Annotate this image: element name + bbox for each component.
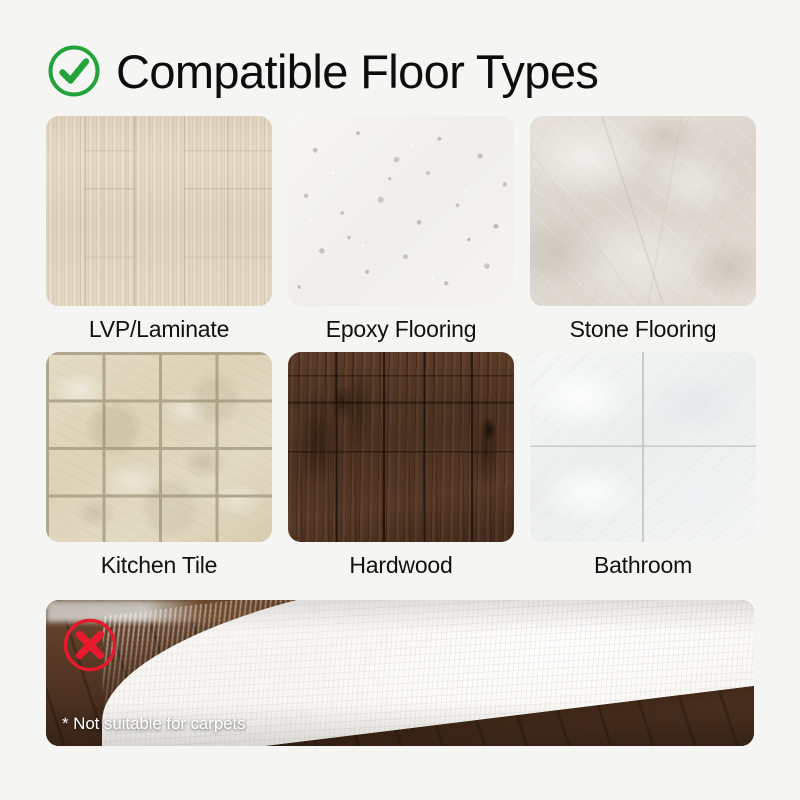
swatch-kitchen-tile xyxy=(46,352,272,542)
floor-type-label: Stone Flooring xyxy=(530,306,756,352)
floor-type-grid: LVP/Laminate Epoxy Flooring Stone Floori… xyxy=(46,116,756,588)
floor-type-label: Kitchen Tile xyxy=(46,542,272,588)
check-circle-icon xyxy=(46,43,102,99)
swatch-epoxy-flooring xyxy=(288,116,514,306)
swatch-lvp-laminate xyxy=(46,116,272,306)
floor-type-label: Epoxy Flooring xyxy=(288,306,514,352)
floor-type-card-hardwood[interactable]: Hardwood xyxy=(288,352,514,588)
infographic-page: Compatible Floor Types LVP/Laminate Epox… xyxy=(0,0,800,800)
floor-type-label: Hardwood xyxy=(288,542,514,588)
floor-type-card-stone-flooring[interactable]: Stone Flooring xyxy=(530,116,756,352)
swatch-hardwood xyxy=(288,352,514,542)
swatch-bathroom xyxy=(530,352,756,542)
floor-type-card-lvp-laminate[interactable]: LVP/Laminate xyxy=(46,116,272,352)
floor-type-card-epoxy-flooring[interactable]: Epoxy Flooring xyxy=(288,116,514,352)
x-circle-icon xyxy=(61,616,119,674)
floor-type-label: LVP/Laminate xyxy=(46,306,272,352)
floor-type-card-bathroom[interactable]: Bathroom xyxy=(530,352,756,588)
floor-type-label: Bathroom xyxy=(530,542,756,588)
floor-type-card-kitchen-tile[interactable]: Kitchen Tile xyxy=(46,352,272,588)
page-title: Compatible Floor Types xyxy=(116,48,598,95)
swatch-stone-flooring xyxy=(530,116,756,306)
carpet-warning-banner: * Not suitable for carpets xyxy=(46,600,754,746)
page-header: Compatible Floor Types xyxy=(46,38,756,104)
banner-caption: * Not suitable for carpets xyxy=(62,714,246,734)
